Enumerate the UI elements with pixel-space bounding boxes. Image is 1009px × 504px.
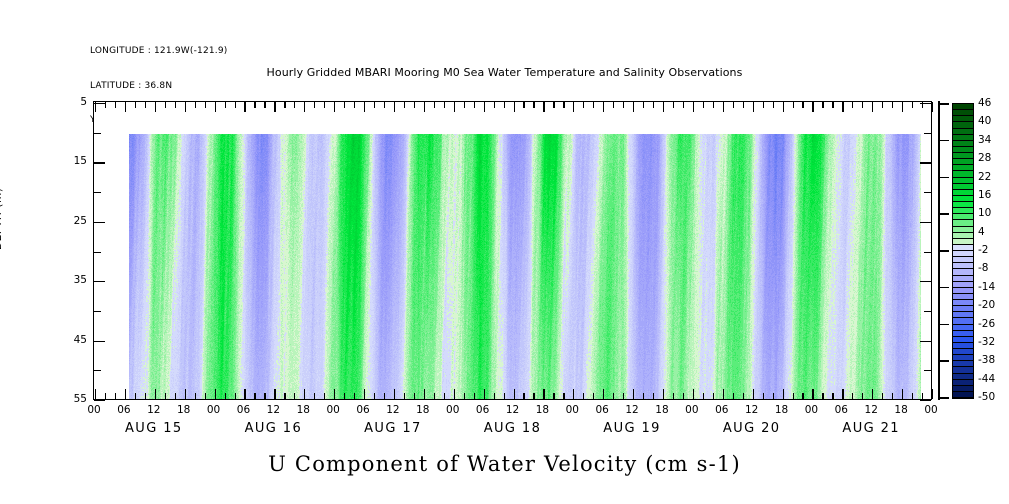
- x-tick-top: [244, 102, 245, 112]
- colorbar-label: -26: [978, 318, 995, 330]
- x-tick-top: [593, 102, 594, 108]
- x-tick-top: [673, 102, 674, 108]
- x-tick-top: [902, 102, 903, 112]
- x-tick: [264, 393, 265, 399]
- x-tick: [733, 393, 734, 399]
- x-axis-hour-label: 00: [924, 404, 937, 416]
- x-tick-top: [374, 102, 375, 108]
- x-axis-hour-label: 00: [446, 404, 459, 416]
- x-tick-top: [683, 102, 684, 108]
- x-axis-hour-label: 18: [416, 404, 429, 416]
- x-tick-top: [543, 102, 544, 112]
- x-tick: [703, 393, 704, 399]
- colorbar-label: -14: [978, 281, 995, 293]
- x-tick: [384, 393, 385, 399]
- x-tick-top: [703, 102, 704, 108]
- x-axis-hour-label: 00: [87, 404, 100, 416]
- x-tick: [294, 393, 295, 399]
- x-tick-top: [394, 102, 395, 112]
- x-axis-day-label: AUG 16: [245, 421, 303, 436]
- x-axis-hour-label: 18: [894, 404, 907, 416]
- x-tick-top: [523, 102, 524, 108]
- heatmap-plot-area: [93, 101, 932, 400]
- x-tick-top: [882, 102, 883, 108]
- x-tick-top: [135, 102, 136, 108]
- x-tick: [723, 389, 724, 399]
- x-tick: [553, 393, 554, 399]
- x-tick-top: [783, 102, 784, 112]
- x-tick: [95, 389, 96, 399]
- x-axis-hour-label: 18: [655, 404, 668, 416]
- x-tick: [603, 389, 604, 399]
- x-tick: [932, 389, 933, 399]
- x-tick: [812, 389, 813, 399]
- x-axis-hour-label: 12: [865, 404, 878, 416]
- longitude-text: LONGITUDE : 121.9W(-121.9): [90, 46, 228, 58]
- x-tick-top: [444, 102, 445, 108]
- x-tick: [434, 393, 435, 399]
- colorbar-label: -50: [978, 391, 995, 403]
- x-axis-hour-label: 00: [685, 404, 698, 416]
- x-tick: [244, 389, 245, 399]
- x-axis-hour-label: 18: [177, 404, 190, 416]
- x-axis-hour-label: 06: [476, 404, 489, 416]
- colorbar-label: 10: [978, 207, 991, 219]
- x-tick-top: [145, 102, 146, 108]
- x-tick: [185, 389, 186, 399]
- x-axis-hour-label: 12: [147, 404, 160, 416]
- colorbar: [952, 103, 974, 399]
- x-tick: [364, 389, 365, 399]
- x-tick-top: [852, 102, 853, 108]
- x-tick: [713, 393, 714, 399]
- x-tick: [912, 393, 913, 399]
- x-tick-top: [334, 102, 335, 112]
- x-tick: [235, 393, 236, 399]
- x-tick-top: [643, 102, 644, 108]
- y-tick-right: [920, 222, 931, 223]
- x-tick: [464, 393, 465, 399]
- x-axis-hour-label: 06: [117, 404, 130, 416]
- x-tick-top: [773, 102, 774, 108]
- x-tick-top: [563, 102, 564, 108]
- colorbar-label: -38: [978, 354, 995, 366]
- x-tick-top: [812, 102, 813, 112]
- x-tick-top: [832, 102, 833, 108]
- x-tick: [852, 393, 853, 399]
- x-axis-day-label: AUG 18: [484, 421, 542, 436]
- colorbar-label: -20: [978, 299, 995, 311]
- x-tick: [394, 389, 395, 399]
- x-tick: [215, 389, 216, 399]
- y-tick: [94, 311, 101, 312]
- x-tick-top: [434, 102, 435, 108]
- x-tick-top: [514, 102, 515, 112]
- x-tick: [254, 393, 255, 399]
- x-tick-top: [842, 102, 843, 112]
- y-tick: [94, 341, 105, 342]
- x-tick-top: [723, 102, 724, 112]
- x-axis-hour-label: 18: [536, 404, 549, 416]
- x-tick-top: [583, 102, 584, 108]
- x-tick: [543, 389, 544, 399]
- x-tick-top: [474, 102, 475, 108]
- x-tick-top: [713, 102, 714, 108]
- x-tick: [663, 389, 664, 399]
- x-tick: [474, 393, 475, 399]
- x-axis-day-label: AUG 15: [125, 421, 183, 436]
- x-tick: [324, 393, 325, 399]
- colorbar-label: 22: [978, 171, 991, 183]
- x-tick-top: [125, 102, 126, 112]
- x-tick: [514, 389, 515, 399]
- x-tick: [753, 389, 754, 399]
- x-tick-top: [633, 102, 634, 112]
- colorbar-band: [953, 392, 973, 398]
- x-tick-top: [603, 102, 604, 112]
- x-tick: [802, 393, 803, 399]
- x-axis-hour-label: 06: [356, 404, 369, 416]
- colorbar-tick: [938, 177, 949, 179]
- x-tick: [623, 393, 624, 399]
- heatmap-data-field: [129, 134, 921, 399]
- x-tick-top: [793, 102, 794, 108]
- colorbar-label: -2: [978, 244, 988, 256]
- y-axis-label: 45: [57, 334, 87, 346]
- x-tick-top: [553, 102, 554, 108]
- x-axis-hour-label: 12: [745, 404, 758, 416]
- x-tick: [135, 393, 136, 399]
- x-tick-top: [424, 102, 425, 112]
- x-tick: [633, 389, 634, 399]
- x-tick: [404, 393, 405, 399]
- x-tick-top: [494, 102, 495, 108]
- x-axis-day-label: AUG 21: [842, 421, 900, 436]
- x-tick: [354, 393, 355, 399]
- x-tick: [832, 393, 833, 399]
- x-tick: [444, 393, 445, 399]
- x-tick-top: [294, 102, 295, 108]
- x-tick-top: [932, 102, 933, 112]
- y-tick: [94, 281, 105, 282]
- x-tick-top: [404, 102, 405, 108]
- x-tick-top: [822, 102, 823, 108]
- x-tick-top: [653, 102, 654, 108]
- x-tick-top: [693, 102, 694, 112]
- x-tick: [643, 393, 644, 399]
- x-tick: [175, 393, 176, 399]
- y-tick-right: [924, 370, 931, 371]
- x-tick-top: [454, 102, 455, 112]
- x-axis-hour-label: 18: [775, 404, 788, 416]
- x-tick: [683, 393, 684, 399]
- colorbar-tick: [938, 324, 949, 326]
- x-axis-day-label: AUG 20: [723, 421, 781, 436]
- x-tick: [125, 389, 126, 399]
- colorbar-label: -44: [978, 373, 995, 385]
- x-tick-top: [195, 102, 196, 108]
- x-tick: [334, 389, 335, 399]
- x-tick: [573, 389, 574, 399]
- x-tick: [304, 389, 305, 399]
- x-tick-top: [663, 102, 664, 112]
- x-tick-top: [763, 102, 764, 108]
- y-tick-right: [924, 133, 931, 134]
- x-tick-top: [484, 102, 485, 112]
- x-axis-hour-label: 12: [386, 404, 399, 416]
- x-tick-top: [504, 102, 505, 108]
- x-tick: [783, 389, 784, 399]
- x-tick-top: [533, 102, 534, 108]
- x-axis-hour-label: 12: [625, 404, 638, 416]
- x-tick: [145, 393, 146, 399]
- colorbar-tick: [938, 213, 949, 215]
- latitude-text: LATITUDE : 36.8N: [90, 81, 228, 93]
- x-tick: [583, 393, 584, 399]
- x-tick-top: [175, 102, 176, 108]
- colorbar-label: 40: [978, 115, 991, 127]
- x-tick: [563, 393, 564, 399]
- x-tick-top: [753, 102, 754, 112]
- x-tick-top: [235, 102, 236, 108]
- x-tick-top: [912, 102, 913, 108]
- y-tick-right: [924, 252, 931, 253]
- x-tick: [314, 393, 315, 399]
- x-tick: [773, 393, 774, 399]
- x-axis-hour-label: 06: [237, 404, 250, 416]
- x-axis-hour-label: 06: [595, 404, 608, 416]
- x-tick-top: [354, 102, 355, 108]
- x-tick: [872, 389, 873, 399]
- x-tick-top: [274, 102, 275, 112]
- x-tick: [284, 393, 285, 399]
- x-axis-hour-label: 06: [835, 404, 848, 416]
- colorbar-tick: [938, 397, 949, 399]
- x-tick: [892, 393, 893, 399]
- x-tick-top: [862, 102, 863, 108]
- colorbar-tick: [938, 103, 949, 105]
- y-tick-right: [920, 103, 931, 104]
- colorbar-label: 16: [978, 189, 991, 201]
- x-tick: [673, 393, 674, 399]
- y-tick: [94, 133, 101, 134]
- x-tick-top: [364, 102, 365, 112]
- x-axis-day-label: AUG 19: [603, 421, 661, 436]
- x-tick-top: [155, 102, 156, 112]
- y-tick-right: [920, 400, 931, 401]
- y-axis-label: 55: [57, 393, 87, 405]
- x-axis-day-label: AUG 17: [364, 421, 422, 436]
- colorbar-tick: [938, 250, 949, 252]
- y-tick: [94, 162, 105, 163]
- x-tick: [613, 393, 614, 399]
- x-tick-top: [115, 102, 116, 108]
- x-axis-hour-label: 12: [506, 404, 519, 416]
- x-tick: [225, 393, 226, 399]
- y-tick-right: [920, 341, 931, 342]
- x-tick-top: [623, 102, 624, 108]
- x-tick-top: [464, 102, 465, 108]
- x-tick-top: [254, 102, 255, 108]
- x-tick-top: [225, 102, 226, 108]
- y-tick: [94, 252, 101, 253]
- x-axis-hour-label: 12: [267, 404, 280, 416]
- x-axis-hour-label: 00: [207, 404, 220, 416]
- y-tick-right: [924, 311, 931, 312]
- x-tick: [344, 393, 345, 399]
- x-tick: [165, 393, 166, 399]
- x-tick: [494, 393, 495, 399]
- x-tick-top: [105, 102, 106, 108]
- x-axis-hour-label: 00: [326, 404, 339, 416]
- variable-title: U Component of Water Velocity (cm s-1): [0, 452, 1009, 476]
- x-tick-top: [284, 102, 285, 108]
- y-tick: [94, 192, 101, 193]
- x-axis-hour-label: 18: [297, 404, 310, 416]
- x-tick: [743, 393, 744, 399]
- x-tick-top: [802, 102, 803, 108]
- x-tick: [523, 393, 524, 399]
- x-tick: [504, 393, 505, 399]
- x-tick: [105, 393, 106, 399]
- y-axis-title: DEPTH (m): [0, 187, 4, 250]
- x-axis-hour-label: 00: [805, 404, 818, 416]
- colorbar-label: -32: [978, 336, 995, 348]
- x-tick-top: [304, 102, 305, 112]
- colorbar-tick: [938, 360, 949, 362]
- x-tick: [862, 393, 863, 399]
- colorbar-tick: [938, 287, 949, 289]
- x-tick: [454, 389, 455, 399]
- colorbar-label: 4: [978, 226, 985, 238]
- y-axis-label: 25: [57, 215, 87, 227]
- y-tick: [94, 370, 101, 371]
- x-tick: [842, 389, 843, 399]
- x-tick-top: [344, 102, 345, 108]
- y-tick: [94, 222, 105, 223]
- x-tick: [693, 389, 694, 399]
- x-tick: [793, 393, 794, 399]
- x-tick-top: [733, 102, 734, 108]
- x-tick: [882, 393, 883, 399]
- x-tick: [205, 393, 206, 399]
- chart-title: Hourly Gridded MBARI Mooring M0 Sea Wate…: [0, 66, 1009, 79]
- y-tick: [94, 400, 105, 401]
- x-tick-top: [185, 102, 186, 112]
- x-tick: [484, 389, 485, 399]
- x-tick-top: [743, 102, 744, 108]
- x-tick: [533, 393, 534, 399]
- x-tick-top: [205, 102, 206, 108]
- colorbar-label: 34: [978, 134, 991, 146]
- colorbar-tick: [938, 140, 949, 142]
- x-tick: [763, 393, 764, 399]
- x-tick-top: [872, 102, 873, 112]
- x-tick: [155, 389, 156, 399]
- colorbar-label: 46: [978, 97, 991, 109]
- y-tick-right: [920, 162, 931, 163]
- x-tick-top: [264, 102, 265, 108]
- x-tick: [374, 393, 375, 399]
- y-tick: [94, 103, 105, 104]
- x-tick: [593, 393, 594, 399]
- x-tick: [922, 393, 923, 399]
- x-tick: [424, 389, 425, 399]
- x-tick: [902, 389, 903, 399]
- x-tick: [653, 393, 654, 399]
- x-tick-top: [613, 102, 614, 108]
- x-tick: [414, 393, 415, 399]
- colorbar-label: -8: [978, 262, 988, 274]
- x-tick: [822, 393, 823, 399]
- x-tick-top: [384, 102, 385, 108]
- colorbar-label: 28: [978, 152, 991, 164]
- y-axis-label: 5: [57, 96, 87, 108]
- x-tick-top: [314, 102, 315, 108]
- x-tick: [115, 393, 116, 399]
- x-tick-top: [215, 102, 216, 112]
- x-tick-top: [892, 102, 893, 108]
- y-axis-label: 35: [57, 274, 87, 286]
- x-tick-top: [573, 102, 574, 112]
- x-axis-hour-label: 06: [715, 404, 728, 416]
- x-tick-top: [324, 102, 325, 108]
- x-tick: [274, 389, 275, 399]
- x-tick: [195, 393, 196, 399]
- x-axis-hour-label: 00: [566, 404, 579, 416]
- x-tick-top: [165, 102, 166, 108]
- y-axis-label: 15: [57, 155, 87, 167]
- x-tick-top: [414, 102, 415, 108]
- y-tick-right: [920, 281, 931, 282]
- y-tick-right: [924, 192, 931, 193]
